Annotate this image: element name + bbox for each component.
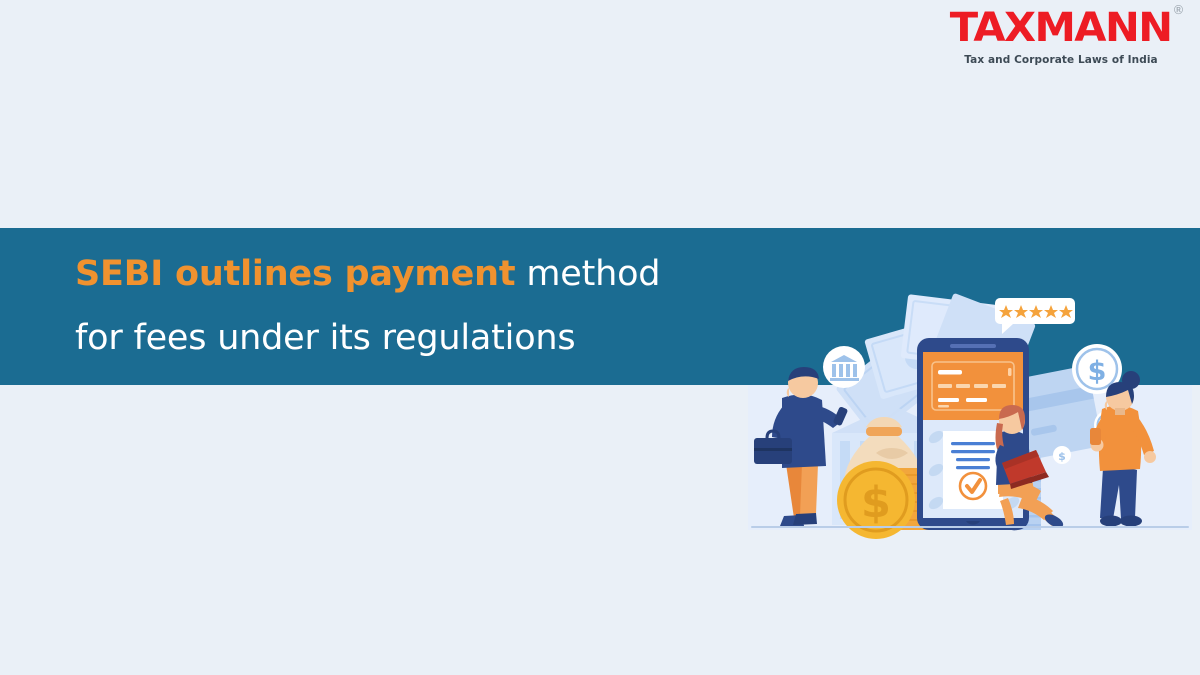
svg-text:$: $ xyxy=(861,478,891,528)
svg-text:$: $ xyxy=(1088,356,1107,387)
page-title: SEBI outlines payment method for fees un… xyxy=(75,242,795,370)
logo-wordmark-text: TAXMANN xyxy=(950,5,1172,51)
registered-trademark-icon: ® xyxy=(1173,4,1185,16)
svg-text:$: $ xyxy=(1058,450,1066,463)
small-phone xyxy=(1090,428,1101,445)
taxmann-logo: TAXMANN ® Tax and Corporate Laws of Indi… xyxy=(946,8,1176,66)
receipt-check-card xyxy=(943,431,1003,509)
logo-tagline: Tax and Corporate Laws of India xyxy=(946,55,1176,66)
logo-wordmark: TAXMANN ® xyxy=(950,8,1172,48)
headline-line-1: SEBI outlines payment method xyxy=(75,242,795,306)
headline-line-2: for fees under its regulations xyxy=(75,306,795,370)
dollar-coin-small: $ xyxy=(1053,446,1071,464)
digital-payment-illustration: $ xyxy=(740,255,1200,575)
star-rating-bubble xyxy=(995,298,1075,334)
hair-bun xyxy=(1122,371,1140,389)
headline-plain-text: method xyxy=(515,254,660,294)
headline-accent-text: SEBI outlines payment xyxy=(75,254,515,294)
bank-icon-badge xyxy=(823,346,865,388)
banner: TAXMANN ® Tax and Corporate Laws of Indi… xyxy=(0,0,1200,675)
